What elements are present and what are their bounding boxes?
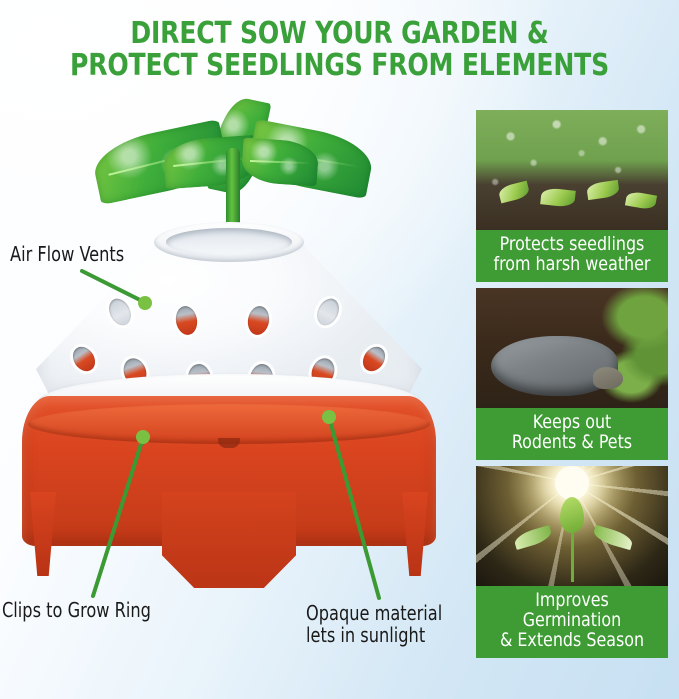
seedlings-in-rain-photo [476,110,668,230]
squirrel-head [593,367,623,389]
raindrops-overlay [476,110,668,230]
benefit-panel-improves-germination: Improves Germination & Extends Season [476,466,668,658]
benefit-caption: Keeps out Rodents & Pets [483,408,662,460]
benefits-panel-list: Protects seedlings from harsh weather Ke… [476,110,668,664]
squirrel-body [491,336,618,396]
infographic-canvas: DIRECT SOW YOUR GARDEN & PROTECT SEEDLIN… [0,0,679,699]
benefit-caption: Protects seedlings from harsh weather [483,230,662,282]
sun-glow [555,466,589,500]
benefit-panel-protects-seedlings: Protects seedlings from harsh weather [476,110,668,282]
benefit-panel-keeps-out-rodents: Keeps out Rodents & Pets [476,288,668,460]
squirrel-in-garden-photo [476,288,668,408]
sunlit-seedling-photo [476,466,668,586]
benefit-caption: Improves Germination & Extends Season [483,586,662,658]
seedling-stem [571,531,574,581]
